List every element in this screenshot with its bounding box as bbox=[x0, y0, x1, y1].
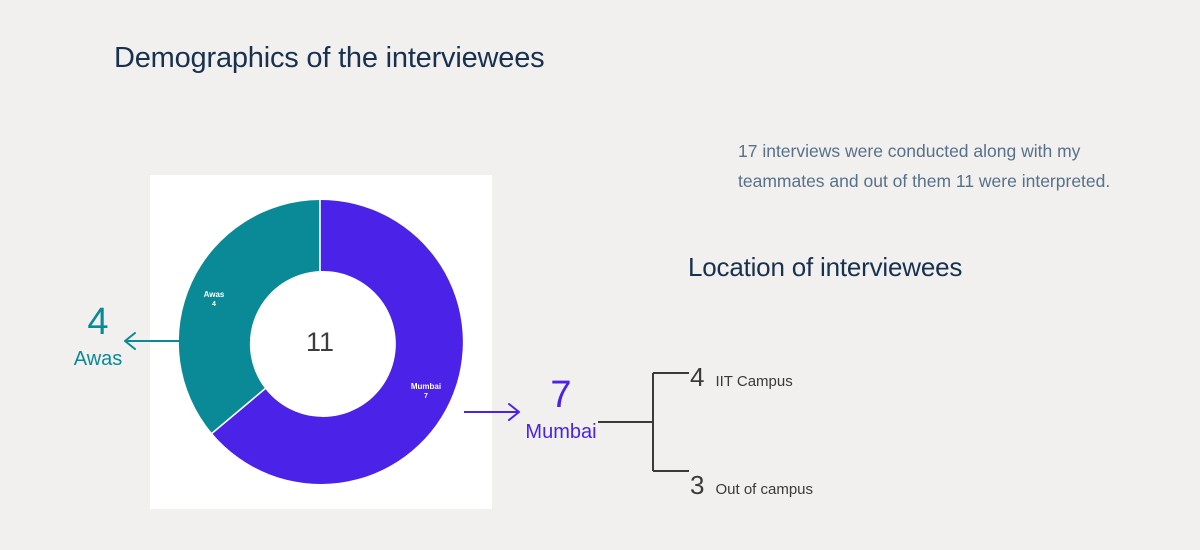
breakdown-row-iit-campus: 4 IIT Campus bbox=[690, 362, 793, 397]
slice-label-mumbai-name: Mumbai bbox=[411, 382, 441, 391]
callout-awas-value: 4 bbox=[48, 302, 148, 342]
slice-label-awas-name: Awas bbox=[204, 290, 225, 299]
donut-slice-awas[interactable] bbox=[179, 200, 320, 433]
breakdown-row-out-of-campus: 3 Out of campus bbox=[690, 470, 813, 505]
breakdown-value-0: 4 bbox=[690, 362, 704, 392]
slide-canvas: Demographics of the interviewees 17 inte… bbox=[0, 0, 1200, 550]
donut-chart-panel: Awas 4 Mumbai 7 11 bbox=[150, 175, 492, 509]
breakdown-label-0: IIT Campus bbox=[715, 367, 792, 397]
section-title: Location of interviewees bbox=[688, 252, 962, 283]
slice-label-mumbai-value: 7 bbox=[424, 393, 428, 400]
callout-awas-label: Awas bbox=[48, 344, 148, 374]
breakdown-value-1: 3 bbox=[690, 470, 704, 500]
donut-center-total: 11 bbox=[306, 327, 334, 357]
breakdown-label-1: Out of campus bbox=[715, 475, 813, 505]
donut-chart: Awas 4 Mumbai 7 11 bbox=[150, 175, 492, 509]
callout-awas: 4 Awas bbox=[48, 302, 148, 374]
intro-paragraph: 17 interviews were conducted along with … bbox=[738, 136, 1158, 196]
page-title: Demographics of the interviewees bbox=[114, 42, 544, 75]
bracket-connector bbox=[596, 365, 696, 480]
slice-label-awas-value: 4 bbox=[212, 301, 216, 308]
